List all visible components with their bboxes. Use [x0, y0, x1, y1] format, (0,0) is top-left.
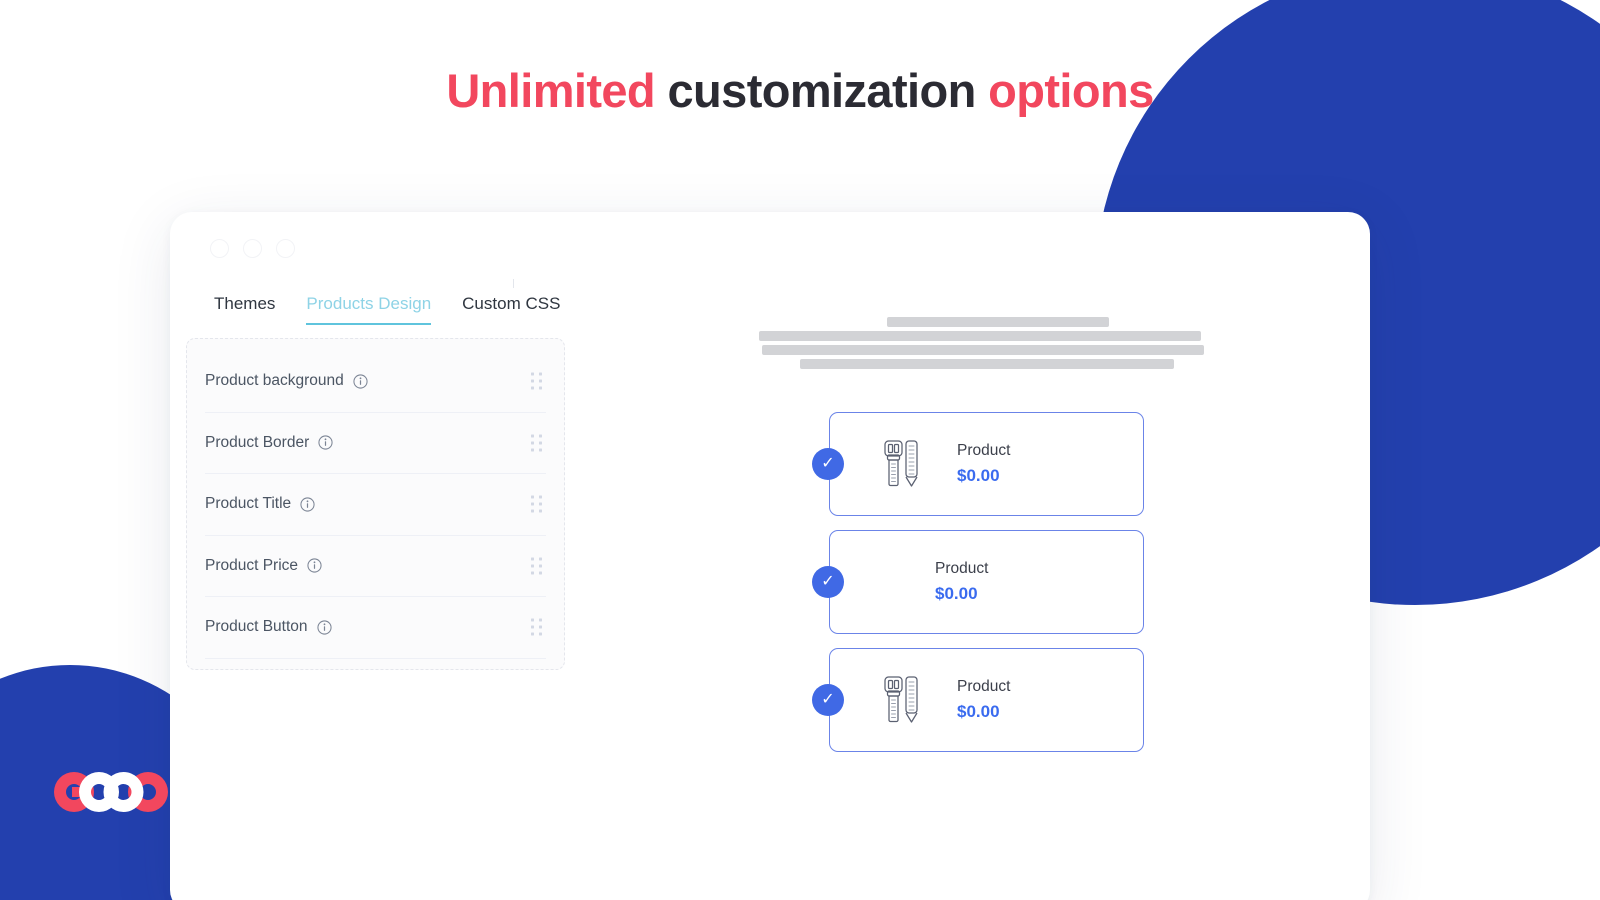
- check-icon[interactable]: ✓: [812, 566, 844, 598]
- drag-handle-icon[interactable]: [531, 619, 542, 636]
- setting-label: Product Title: [205, 495, 291, 513]
- setting-row-product-price[interactable]: Product Price: [205, 536, 546, 598]
- watch-strap-icon: [873, 669, 935, 731]
- skeleton-placeholder-text: [590, 317, 1370, 373]
- setting-row-product-background[interactable]: Product background: [205, 351, 546, 413]
- tab-tick-mark: [513, 279, 514, 288]
- product-title: Product: [935, 560, 988, 578]
- drag-handle-icon[interactable]: [531, 434, 542, 451]
- product-card[interactable]: ✓: [829, 412, 1144, 516]
- drag-handle-icon[interactable]: [531, 496, 542, 513]
- setting-label: Product background: [205, 372, 344, 390]
- skeleton-bar: [762, 345, 1204, 355]
- product-title: Product: [957, 442, 1010, 460]
- setting-row-product-title[interactable]: Product Title: [205, 474, 546, 536]
- info-icon[interactable]: [318, 435, 333, 450]
- live-preview-area: ✓: [590, 212, 1370, 900]
- skeleton-row: [590, 359, 1370, 369]
- window-minimize-dot[interactable]: [243, 239, 262, 258]
- skeleton-row: [590, 317, 1370, 327]
- product-info: Product $0.00: [957, 442, 1010, 486]
- info-icon[interactable]: [307, 558, 322, 573]
- skeleton-row: [590, 345, 1370, 355]
- product-card-list: ✓: [829, 412, 1144, 766]
- skeleton-row: [590, 331, 1370, 341]
- skeleton-bar: [887, 317, 1109, 327]
- drag-handle-icon[interactable]: [531, 373, 542, 390]
- skeleton-bar: [759, 331, 1201, 341]
- setting-row-product-border[interactable]: Product Border: [205, 413, 546, 475]
- setting-label: Product Button: [205, 618, 308, 636]
- app-window: Themes Products Design Custom CSS Produc…: [170, 212, 1370, 900]
- headline-word-1: Unlimited: [446, 64, 655, 117]
- drag-handle-icon[interactable]: [531, 557, 542, 574]
- setting-label: Product Price: [205, 557, 298, 575]
- product-title: Product: [957, 678, 1010, 696]
- headline-word-2: customization: [668, 64, 976, 117]
- tab-custom-css[interactable]: Custom CSS: [462, 294, 560, 325]
- product-card[interactable]: ✓: [829, 648, 1144, 752]
- product-price: $0.00: [957, 466, 1010, 486]
- check-icon[interactable]: ✓: [812, 448, 844, 480]
- page-headline: Unlimited customization options: [0, 58, 1600, 124]
- headline-word-3: options: [988, 64, 1154, 117]
- tab-products-design[interactable]: Products Design: [306, 294, 431, 325]
- info-icon[interactable]: [317, 620, 332, 635]
- info-icon[interactable]: [353, 374, 368, 389]
- window-maximize-dot[interactable]: [276, 239, 295, 258]
- tab-bar: Themes Products Design Custom CSS: [214, 294, 560, 325]
- watch-strap-icon: [873, 433, 935, 495]
- product-info: Product $0.00: [957, 678, 1010, 722]
- product-info: Product $0.00: [935, 560, 988, 604]
- skeleton-bar: [800, 359, 1174, 369]
- product-card[interactable]: ✓ Product $0.00: [829, 530, 1144, 634]
- tab-themes[interactable]: Themes: [214, 294, 275, 325]
- info-icon[interactable]: [300, 497, 315, 512]
- page-root: Unlimited customization options Themes P…: [0, 0, 1600, 900]
- window-close-dot[interactable]: [210, 239, 229, 258]
- brand-logo[interactable]: [50, 770, 172, 814]
- setting-label: Product Border: [205, 434, 309, 452]
- product-price: $0.00: [935, 584, 988, 604]
- check-icon[interactable]: ✓: [812, 684, 844, 716]
- products-design-settings-panel: Product background Product Border: [186, 338, 565, 670]
- window-controls: [210, 239, 295, 258]
- setting-row-product-button[interactable]: Product Button: [205, 597, 546, 659]
- product-price: $0.00: [957, 702, 1010, 722]
